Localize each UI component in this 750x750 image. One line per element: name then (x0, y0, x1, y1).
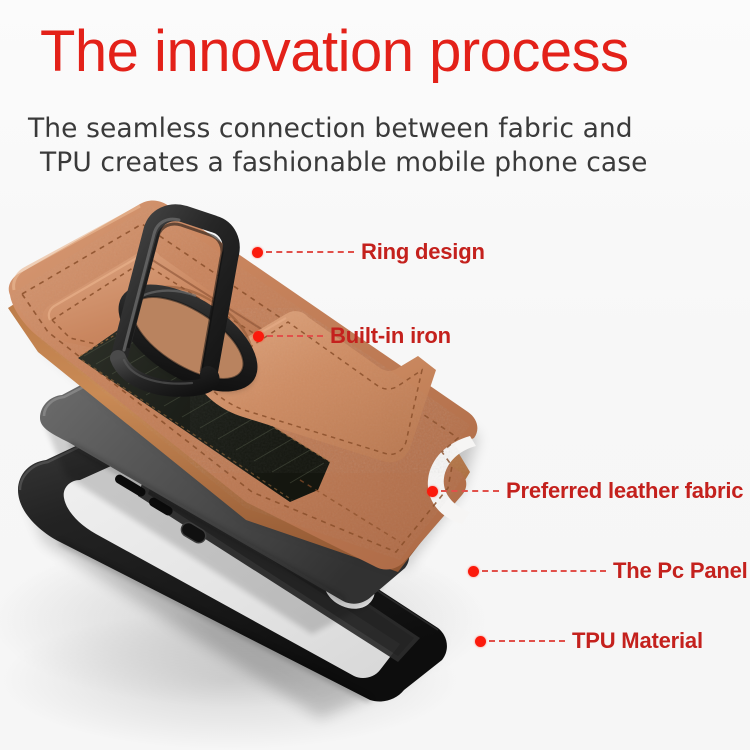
callout-leader-line-ring-design (266, 251, 354, 253)
page-subtitle: The seamless connection between fabric a… (28, 112, 728, 180)
callout-label-built-in-iron: Built-in iron (330, 325, 451, 347)
infographic-page: The innovation process The seamless conn… (0, 0, 750, 750)
callout-label-the-pc-panel: The Pc Panel (613, 560, 748, 582)
callout-dot-preferred-leather-fabric (427, 486, 438, 497)
callout-label-preferred-leather-fabric: Preferred leather fabric (506, 480, 743, 502)
callout-leader-line-preferred-leather-fabric (441, 490, 499, 492)
subtitle-line-2: TPU creates a fashionable mobile phone c… (28, 146, 728, 180)
callout-dot-built-in-iron (253, 331, 264, 342)
callout-leader-line-built-in-iron (267, 335, 323, 337)
callout-dot-the-pc-panel (468, 566, 479, 577)
callout-leader-line-tpu-material (489, 640, 565, 642)
callout-dot-tpu-material (475, 636, 486, 647)
callout-label-tpu-material: TPU Material (572, 630, 703, 652)
callout-dot-ring-design (252, 247, 263, 258)
product-illustration (0, 190, 560, 750)
page-title: The innovation process (40, 22, 730, 83)
callout-leader-line-the-pc-panel (482, 570, 606, 572)
callout-label-ring-design: Ring design (361, 241, 485, 263)
subtitle-line-1: The seamless connection between fabric a… (28, 113, 633, 144)
